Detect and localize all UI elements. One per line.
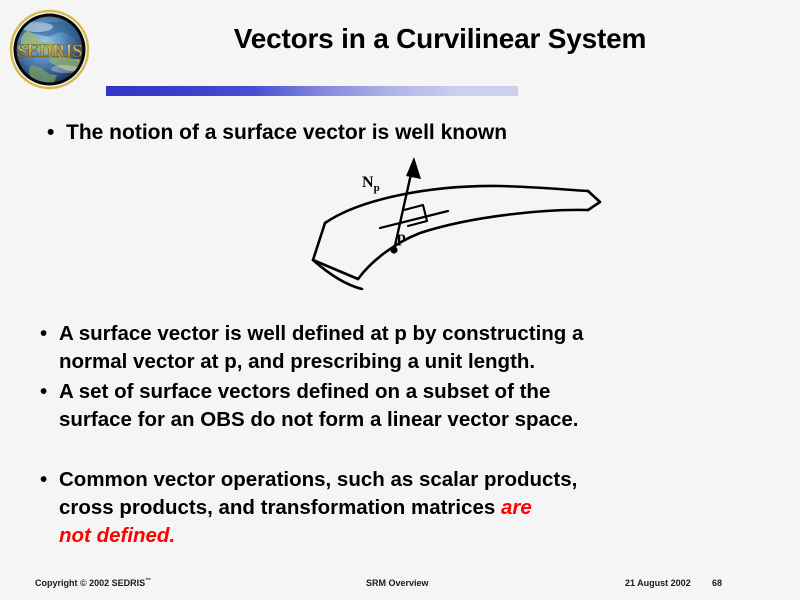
patch-front-edge (358, 210, 588, 279)
bullet-4-line-2-wrap: cross products, and transformation matri… (40, 494, 770, 522)
bullet-3-line-2: surface for an OBS do not form a linear … (40, 406, 770, 434)
bullet-item-1: • The notion of a surface vector is well… (47, 120, 747, 146)
bullet-3-line-1: A set of surface vectors defined on a su… (59, 380, 550, 403)
bullet-2-line-2: normal vector at p, and prescribing a un… (40, 348, 770, 376)
bullet-item-2: • A surface vector is well defined at p … (40, 320, 770, 376)
normal-vector-label-n: N (362, 174, 374, 191)
bullet-4-line-2: cross products, and transformation matri… (59, 496, 501, 519)
bullet-4-emphasis-2: not defined. (40, 522, 770, 550)
point-p-label: p (397, 229, 406, 247)
bullet-marker-icon: • (40, 466, 47, 494)
patch-right-cap (588, 191, 600, 210)
footer-copyright-text: Copyright © 2002 SEDRIS (35, 578, 145, 588)
footer-date: 21 August 2002 (625, 578, 691, 588)
sedris-wordmark: SEDRIS (17, 41, 82, 62)
title-accent-rule (106, 86, 518, 96)
sedris-logo-svg: SEDRIS ™ (7, 7, 92, 92)
footer-deck-title: SRM Overview (366, 578, 429, 588)
bullet-marker-icon: • (47, 120, 54, 146)
normal-vector-arrowhead-icon (406, 157, 421, 179)
point-p-dot (390, 246, 397, 253)
sedris-logo: SEDRIS ™ (7, 7, 92, 92)
bullet-2-line-1: A surface vector is well defined at p by… (59, 322, 583, 345)
normal-vector-label: Np (362, 174, 380, 194)
bullet-marker-icon: • (40, 320, 47, 348)
logo-trademark-icon: ™ (75, 59, 81, 65)
patch-left-cap (313, 223, 358, 279)
slide-canvas: SEDRIS ™ Vectors in a Curvilinear System… (0, 0, 800, 600)
surface-patch-svg (300, 155, 620, 290)
bullet-marker-icon: • (40, 378, 47, 406)
bullet-4-line-1: Common vector operations, such as scalar… (59, 468, 577, 491)
footer-page-number: 68 (712, 578, 722, 588)
bullet-4-emphasis-1: are (501, 496, 532, 519)
surface-vector-diagram: Np p (300, 155, 620, 290)
bullet-item-3: • A set of surface vectors defined on a … (40, 378, 770, 434)
bullet-item-4: • Common vector operations, such as scal… (40, 466, 770, 550)
slide-footer: Copyright © 2002 SEDRIS™ SRM Overview 21… (0, 575, 800, 595)
footer-copyright: Copyright © 2002 SEDRIS™ (35, 578, 151, 588)
right-angle-marker-icon (404, 205, 427, 226)
page-title: Vectors in a Curvilinear System (110, 23, 770, 55)
footer-trademark-icon: ™ (145, 578, 151, 584)
bullet-1-text: The notion of a surface vector is well k… (66, 121, 507, 144)
normal-vector-label-sub: p (374, 182, 380, 194)
